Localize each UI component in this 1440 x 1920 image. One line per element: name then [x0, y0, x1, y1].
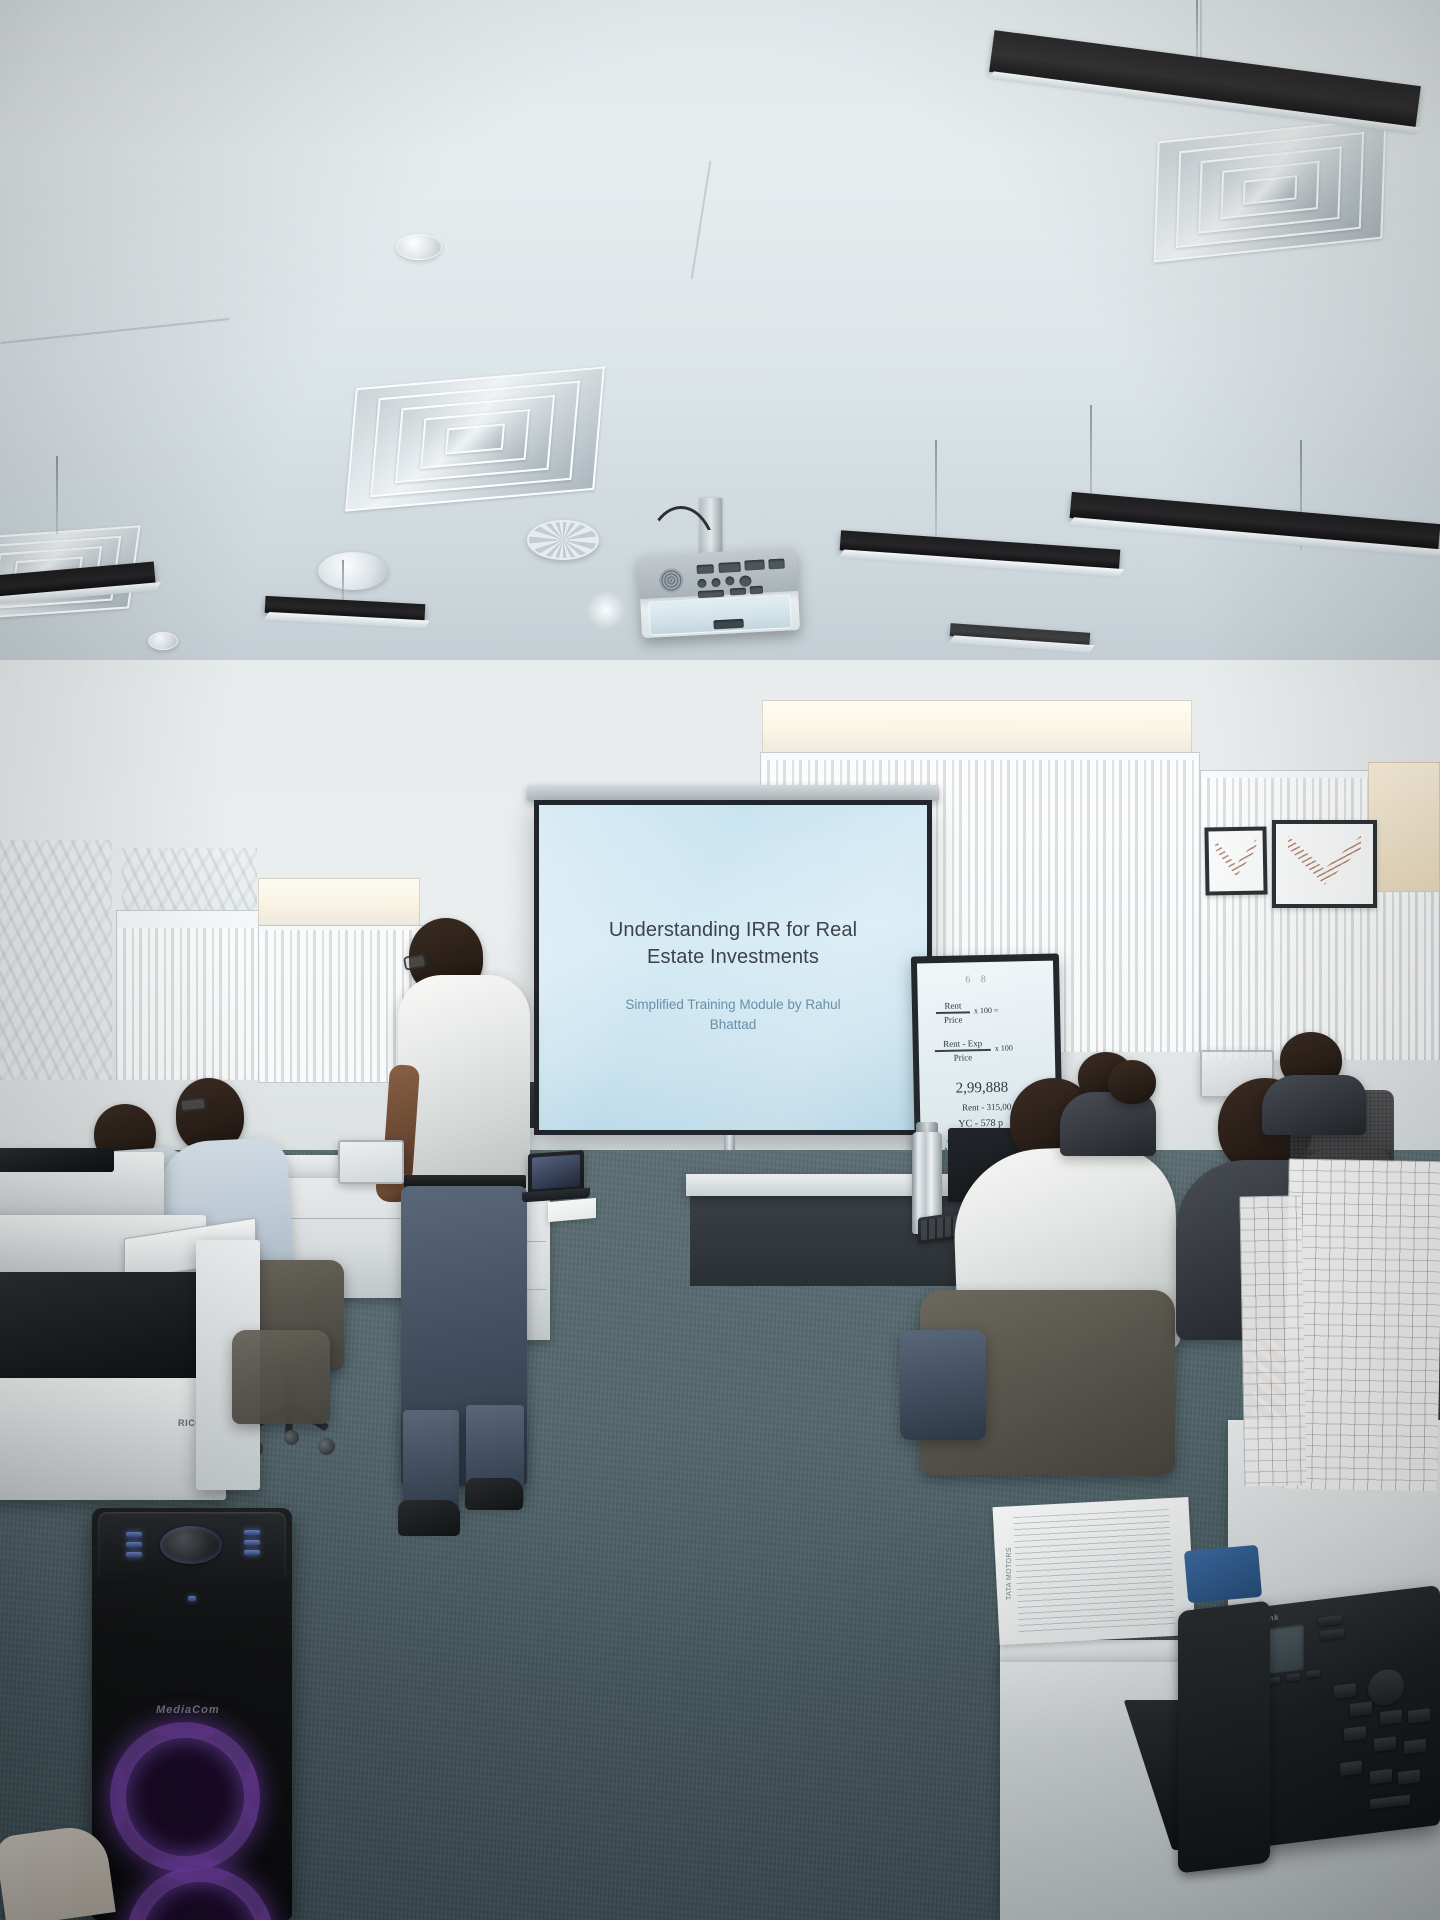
- framed-artwork-large: [1272, 820, 1377, 908]
- copier-body: [0, 1378, 226, 1500]
- window-blind-film-center-left: [260, 930, 421, 1082]
- whiteboard-formula-1: Rent Price: [936, 1000, 970, 1024]
- ceiling-exhaust-vent: [527, 520, 599, 560]
- projector-lens: [648, 594, 792, 635]
- phone-dialpad-key[interactable]: [1350, 1701, 1372, 1717]
- party-speaker: MediaCom: [92, 1508, 292, 1920]
- phone-speaker-key[interactable]: [1370, 1795, 1410, 1810]
- printed-report: [1283, 1159, 1440, 1492]
- phone-line-key[interactable]: [1306, 1670, 1320, 1679]
- speaker-button[interactable]: [126, 1542, 142, 1547]
- window-panel-left: [258, 878, 420, 926]
- speaker-button[interactable]: [244, 1550, 260, 1555]
- phone-dialpad-key[interactable]: [1370, 1769, 1392, 1785]
- pendant-wire: [56, 456, 58, 534]
- copier-lid: [0, 1148, 114, 1172]
- whiteboard-formula-1-suffix: x 100 =: [974, 1006, 999, 1016]
- printed-report-second: [1239, 1195, 1306, 1486]
- whiteboard-formula-2-suffix: x 100: [995, 1043, 1013, 1052]
- speaker-button[interactable]: [244, 1540, 260, 1545]
- pendant-wire: [1196, 0, 1198, 58]
- speaker-button[interactable]: [126, 1532, 142, 1537]
- phone-dialpad-key[interactable]: [1398, 1769, 1420, 1785]
- phone-dialpad-key[interactable]: [1340, 1760, 1362, 1776]
- blue-folder: [1184, 1545, 1262, 1603]
- phone-dialpad-key[interactable]: [1380, 1710, 1402, 1726]
- office-chair-left-low[interactable]: [232, 1330, 330, 1424]
- phone-soft-key[interactable]: [1320, 1629, 1344, 1641]
- slide-surface: Understanding IRR for Real Estate Invest…: [539, 805, 927, 1130]
- phone-soft-key[interactable]: [1318, 1615, 1342, 1627]
- phone-line-key[interactable]: [1286, 1673, 1300, 1682]
- textured-wallpaper-left: [0, 840, 112, 1080]
- framed-artwork-small: [1204, 826, 1267, 895]
- hvac-diffuser-top-right: [1154, 117, 1387, 262]
- phone-dialpad-key[interactable]: [1408, 1708, 1430, 1724]
- phone-navigation-key[interactable]: [1368, 1667, 1404, 1707]
- paper-stack: [993, 1497, 1196, 1645]
- chair-caster: [284, 1430, 299, 1445]
- chevron-pattern: [1288, 835, 1362, 885]
- attendee-right-front-legs: [900, 1330, 986, 1440]
- speaker-volume-knob[interactable]: [160, 1526, 222, 1564]
- pendant-wire: [342, 560, 344, 604]
- phone-dialpad-key[interactable]: [1344, 1726, 1366, 1742]
- phone-dialpad-key[interactable]: [1374, 1736, 1396, 1752]
- speaker-control-panel[interactable]: [98, 1512, 286, 1578]
- speaker-brand-label: MediaCom: [156, 1704, 220, 1716]
- smoke-detector-icon: [148, 632, 178, 650]
- document-stamp-text: TATA MOTORS: [1006, 1547, 1013, 1600]
- pendant-wire: [935, 440, 937, 540]
- phone-handset[interactable]: [1178, 1600, 1270, 1873]
- laptop-screen-left: [528, 1150, 584, 1194]
- paper-text-lines: [1013, 1509, 1176, 1633]
- projector: [638, 548, 800, 638]
- window-blind-film-left: [118, 928, 262, 1080]
- window-panel-right: [762, 700, 1192, 754]
- smoke-detector-icon: [396, 234, 442, 260]
- desk-paper-left: [548, 1198, 596, 1222]
- chevron-pattern: [1215, 839, 1257, 877]
- projection-screen-housing: [527, 785, 939, 801]
- chair-caster: [318, 1438, 335, 1455]
- speaker-led-indicator: [188, 1596, 196, 1601]
- speaker-led-ring-lower: [126, 1866, 274, 1920]
- speaker-button[interactable]: [244, 1530, 260, 1535]
- whiteboard-note-2: Rent - 315,00: [962, 1102, 1011, 1113]
- phone-dialpad-key[interactable]: [1404, 1739, 1426, 1755]
- slide-subtitle: Simplified Training Module by Rahul Bhat…: [607, 995, 859, 1033]
- monitor-back-left: [338, 1140, 404, 1184]
- whiteboard-note-1: 2,99,888: [955, 1080, 1008, 1098]
- whiteboard-header: 6 8: [965, 974, 990, 986]
- hvac-diffuser-center: [345, 366, 605, 511]
- phone-dialpad-key[interactable]: [1334, 1683, 1356, 1699]
- lens-flare: [586, 590, 626, 630]
- whiteboard-formula-2: Rent - Exp Price: [935, 1038, 991, 1063]
- speaker-led-ring-upper: [110, 1722, 260, 1872]
- copier-output-bin: [0, 1272, 220, 1390]
- presenter-shoe: [398, 1500, 460, 1536]
- ceiling-speaker-icon: [318, 552, 388, 590]
- office-training-scene: Understanding IRR for Real Estate Invest…: [0, 0, 1440, 1920]
- speaker-button[interactable]: [126, 1552, 142, 1557]
- projection-screen[interactable]: Understanding IRR for Real Estate Invest…: [534, 800, 932, 1135]
- slide-title: Understanding IRR for Real Estate Invest…: [598, 917, 868, 971]
- window-panel-far-right: [1368, 762, 1440, 892]
- eyeglasses-icon: [179, 1097, 206, 1113]
- presenter-shoe: [465, 1478, 523, 1510]
